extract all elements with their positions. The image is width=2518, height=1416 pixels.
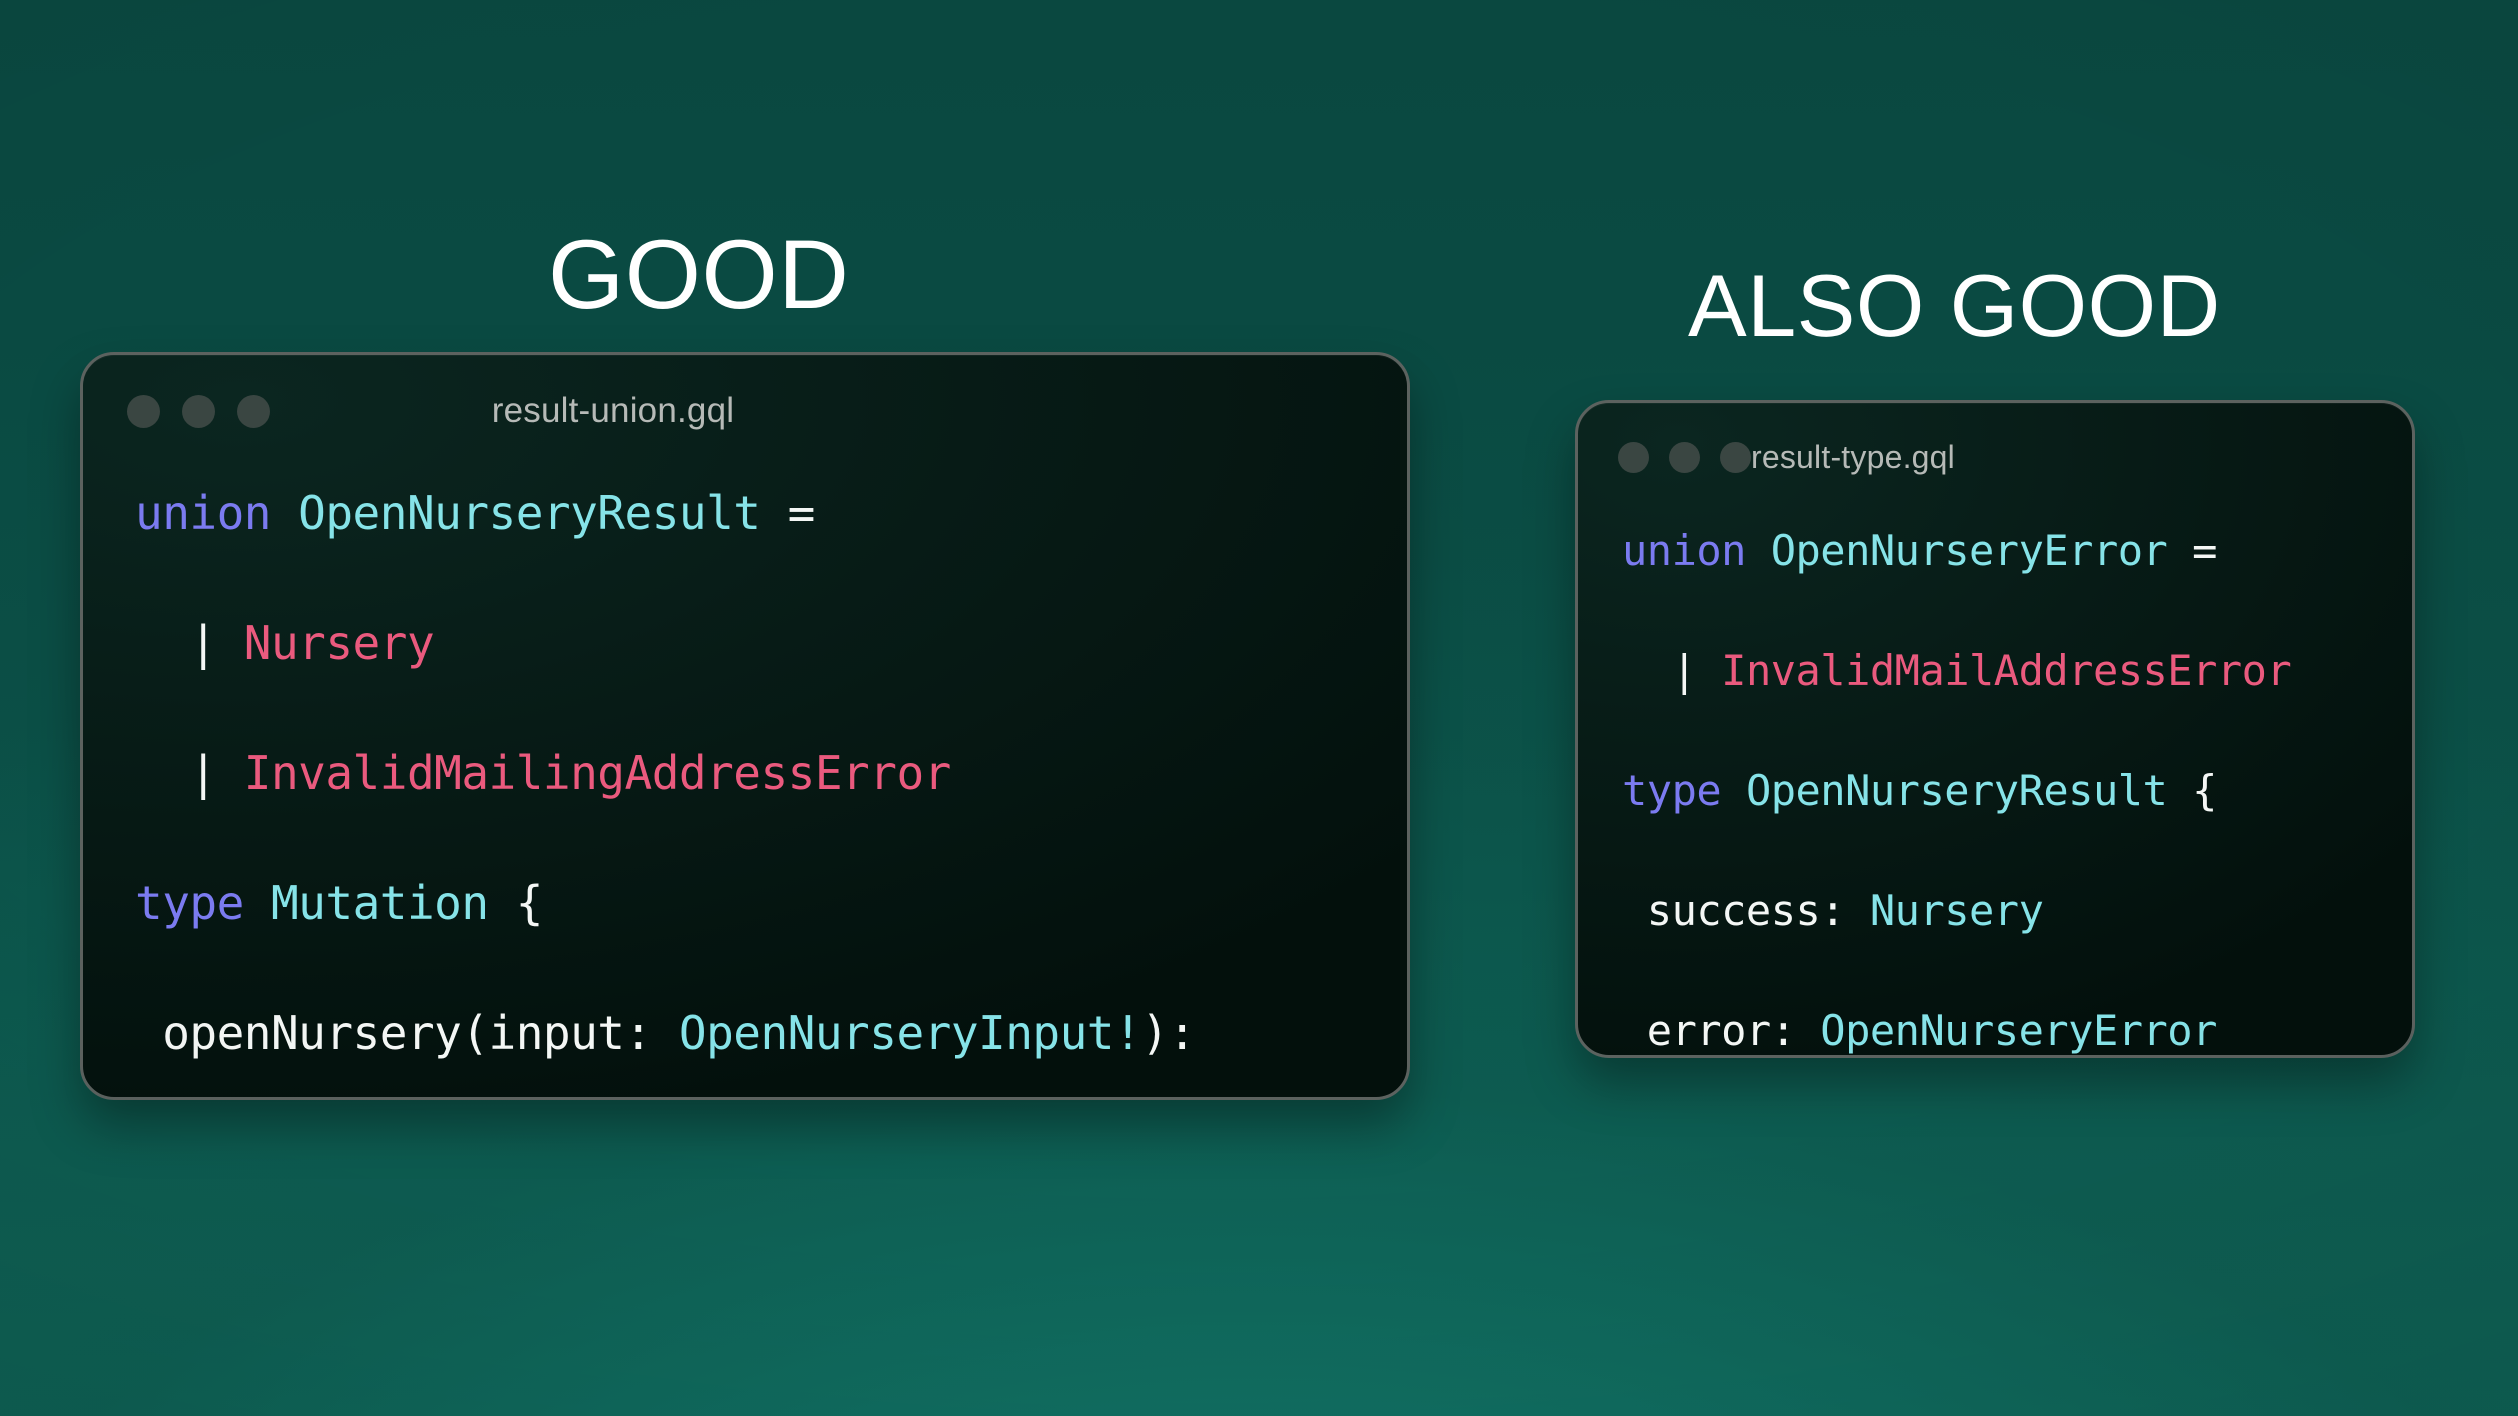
- code-token-pln: |: [1622, 646, 1721, 695]
- code-token-err: InvalidMailingAddressError: [244, 746, 951, 800]
- code-line: union OpenNurseryResult =: [135, 481, 1407, 546]
- heading-good: GOOD: [548, 225, 849, 323]
- code-token-pln: success:: [1622, 886, 1870, 935]
- code-token-pln: =: [760, 486, 814, 540]
- code-token-pln: openNursery(input:: [135, 1006, 679, 1060]
- heading-also-good: ALSO GOOD: [1688, 262, 2221, 350]
- code-token-pln: |: [135, 746, 244, 800]
- code-token-pln: {: [2167, 766, 2217, 815]
- code-line: error: OpenNurseryError: [1622, 1001, 2412, 1058]
- code-token-pln: error:: [1622, 1006, 1820, 1055]
- dot-red-icon[interactable]: [127, 395, 160, 428]
- dot-green-icon[interactable]: [237, 395, 270, 428]
- code-line: success: Nursery: [1622, 881, 2412, 941]
- code-token-typ: Nursery: [1870, 886, 2044, 935]
- code-token-err: InvalidMailAddressError: [1721, 646, 2291, 695]
- panel-titlebar: result-type.gql: [1578, 403, 2412, 511]
- code-panel-result-union: result-union.gql union OpenNurseryResult…: [80, 352, 1410, 1100]
- slide-canvas: GOOD result-union.gql union OpenNurseryR…: [0, 0, 2518, 1416]
- code-line: type Mutation {: [135, 871, 1407, 936]
- dot-red-icon[interactable]: [1618, 442, 1649, 473]
- code-line: openNursery(input: OpenNurseryInput!):: [135, 1001, 1407, 1066]
- code-line: | InvalidMailingAddressError: [135, 741, 1407, 806]
- dot-yellow-icon[interactable]: [182, 395, 215, 428]
- code-token-kw: union: [1622, 526, 1771, 575]
- code-token-err: Nursery: [244, 616, 434, 670]
- code-token-kw: type: [135, 876, 271, 930]
- code-block[interactable]: union OpenNurseryError = | InvalidMailAd…: [1578, 511, 2412, 1058]
- code-line: type OpenNurseryResult {: [1622, 761, 2412, 821]
- code-line: union OpenNurseryError =: [1622, 521, 2412, 581]
- traffic-lights: [1618, 442, 1751, 473]
- dot-green-icon[interactable]: [1720, 442, 1751, 473]
- code-token-typ: OpenNurseryError: [1820, 1006, 2217, 1055]
- code-token-typ: OpenNurseryError: [1771, 526, 2168, 575]
- code-token-kw: union: [135, 486, 298, 540]
- code-token-typ: OpenNurseryResult: [1746, 766, 2167, 815]
- code-token-typ: Mutation: [271, 876, 489, 930]
- code-panel-result-type: result-type.gql union OpenNurseryError =…: [1575, 400, 2415, 1058]
- code-token-pln: |: [135, 616, 244, 670]
- code-token-pln: {: [489, 876, 543, 930]
- code-token-kw: type: [1622, 766, 1746, 815]
- code-token-typ: OpenNurseryResult: [298, 486, 760, 540]
- panel-titlebar: result-union.gql: [83, 355, 1407, 467]
- code-token-typ: OpenNurseryInput!: [679, 1006, 1141, 1060]
- code-block[interactable]: union OpenNurseryResult = | Nursery | In…: [83, 467, 1407, 1100]
- code-line: | Nursery: [135, 611, 1407, 676]
- dot-yellow-icon[interactable]: [1669, 442, 1700, 473]
- traffic-lights: [127, 395, 270, 428]
- code-token-pln: ):: [1141, 1006, 1195, 1060]
- code-token-pln: =: [2167, 526, 2217, 575]
- code-line: | InvalidMailAddressError: [1622, 641, 2412, 701]
